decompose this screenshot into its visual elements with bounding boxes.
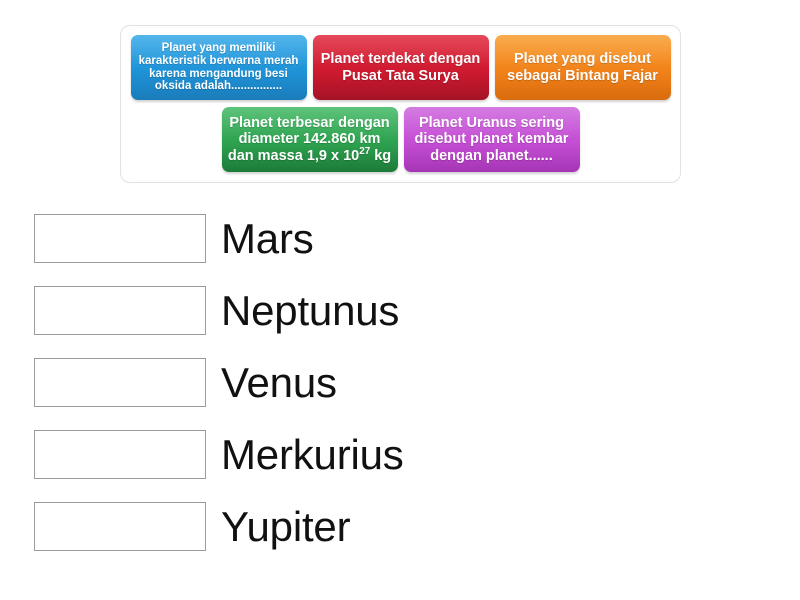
answer-row-yupiter: Yupiter xyxy=(34,502,774,551)
answer-label-venus: Venus xyxy=(221,362,337,404)
answer-label-neptunus: Neptunus xyxy=(221,290,399,332)
answer-label-yupiter: Yupiter xyxy=(221,506,350,548)
draggable-tile-blue-text: Planet yang memiliki karakteristik berwa… xyxy=(136,42,302,94)
draggable-tile-orange-text: Planet yang disebut sebagai Bintang Faja… xyxy=(500,51,666,84)
draggable-tile-purple-text: Planet Uranus sering disebut planet kemb… xyxy=(409,115,575,164)
drop-zone-venus[interactable] xyxy=(34,358,206,407)
activity-canvas: Planet yang memiliki karakteristik berwa… xyxy=(0,0,800,600)
tile-tray: Planet yang memiliki karakteristik berwa… xyxy=(120,25,681,183)
draggable-tile-purple[interactable]: Planet Uranus sering disebut planet kemb… xyxy=(404,107,580,172)
drop-zone-yupiter[interactable] xyxy=(34,502,206,551)
draggable-tile-green[interactable]: Planet terbesar dengan diameter 142.860 … xyxy=(222,107,398,172)
draggable-tile-green-text-tail: kg xyxy=(370,148,391,164)
draggable-tile-red[interactable]: Planet terdekat dengan Pusat Tata Surya xyxy=(313,35,489,100)
drop-zone-neptunus[interactable] xyxy=(34,286,206,335)
draggable-tile-green-exponent: 27 xyxy=(359,146,370,157)
answer-label-merkurius: Merkurius xyxy=(221,434,404,476)
draggable-tile-red-text: Planet terdekat dengan Pusat Tata Surya xyxy=(318,51,484,84)
answer-row-mars: Mars xyxy=(34,214,774,263)
draggable-tile-orange[interactable]: Planet yang disebut sebagai Bintang Faja… xyxy=(495,35,671,100)
answer-row-venus: Venus xyxy=(34,358,774,407)
draggable-tile-green-text: Planet terbesar dengan diameter 142.860 … xyxy=(227,115,393,164)
answer-list: Mars Neptunus Venus Merkurius Yupiter xyxy=(34,214,774,574)
drop-zone-mars[interactable] xyxy=(34,214,206,263)
draggable-tile-blue[interactable]: Planet yang memiliki karakteristik berwa… xyxy=(131,35,307,100)
drop-zone-merkurius[interactable] xyxy=(34,430,206,479)
answer-row-neptunus: Neptunus xyxy=(34,286,774,335)
tile-tray-row-bottom: Planet terbesar dengan diameter 142.860 … xyxy=(127,107,674,172)
answer-row-merkurius: Merkurius xyxy=(34,430,774,479)
tile-tray-row-top: Planet yang memiliki karakteristik berwa… xyxy=(127,35,674,100)
answer-label-mars: Mars xyxy=(221,218,314,260)
